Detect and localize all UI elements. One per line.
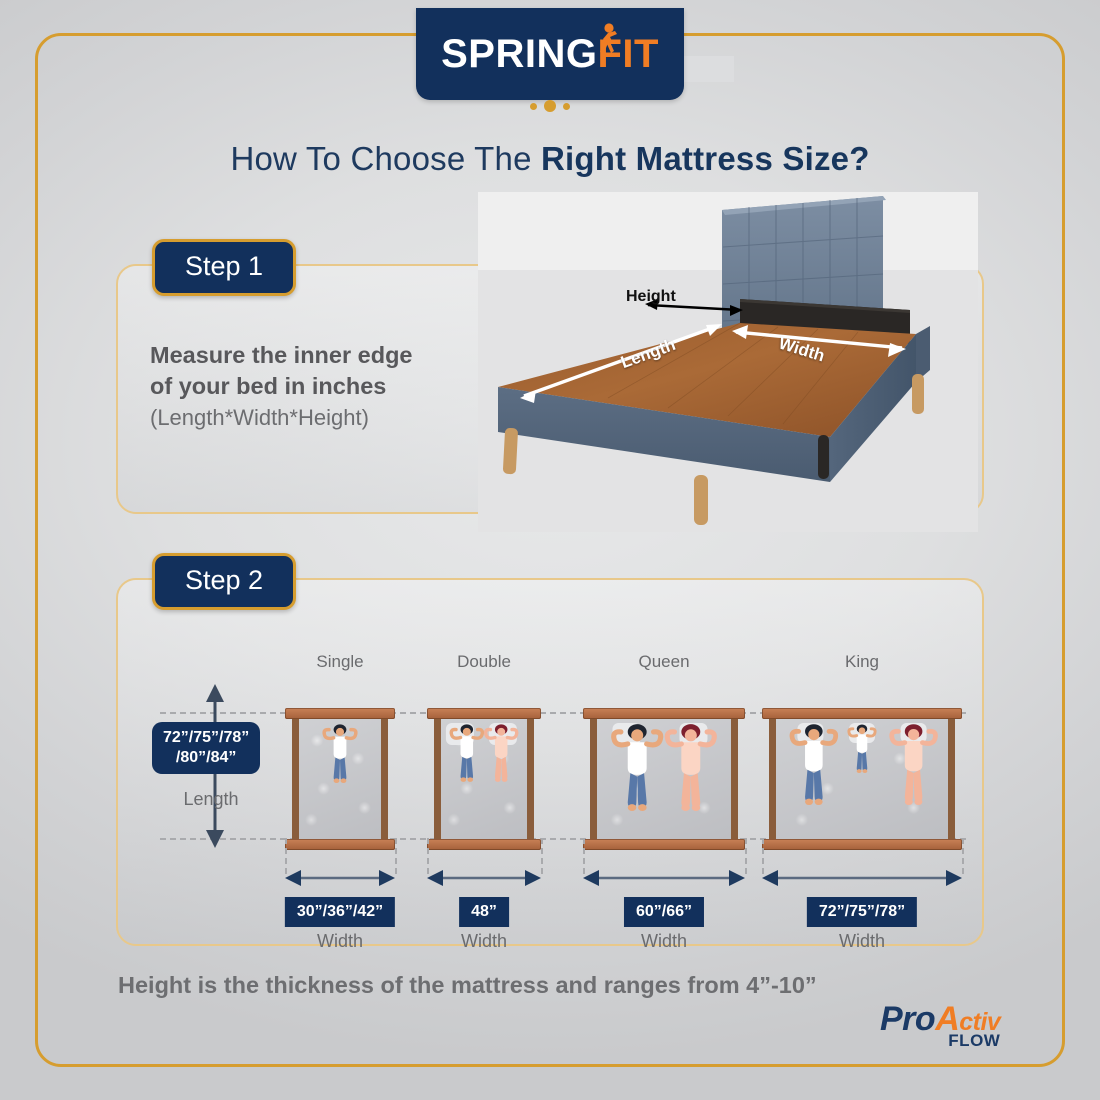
guide-tick (541, 838, 543, 874)
logo-divider-dots (416, 98, 684, 114)
width-value-single: 30”/36”/42” (285, 897, 395, 927)
guide-tick (285, 838, 287, 874)
step-1-line-2: of your bed in inches (150, 371, 480, 402)
length-value-badge: 72”/75”/78” /80”/84” (152, 722, 260, 774)
bed-illustration: Height Length Width (478, 192, 978, 532)
width-value-double: 48” (459, 897, 509, 927)
step-2-badge: Step 2 (152, 553, 296, 610)
slat-bottom-king (762, 839, 962, 850)
proactiv-pro: Pro (880, 1000, 935, 1038)
step-1-badge: Step 1 (152, 239, 296, 296)
guide-tick (395, 838, 397, 874)
mattress-panel-single (292, 719, 388, 839)
guide-tick (962, 838, 964, 874)
size-name-double: Double (457, 652, 511, 672)
page-title-plain: How To Choose The (230, 140, 541, 177)
dot-small-right (563, 103, 570, 110)
width-caption-single: Width (317, 931, 363, 952)
width-arrow-single (285, 869, 395, 887)
guide-tick (745, 838, 747, 874)
length-value-line-1: 72”/75”/78” (163, 728, 249, 748)
brand-logo-text: SPRINGFIT (441, 34, 659, 74)
bed-graphic (478, 192, 978, 532)
footer-note: Height is the thickness of the mattress … (118, 972, 817, 999)
guide-tick (427, 838, 429, 874)
width-arrow-queen (583, 869, 745, 887)
mattress-surface-queen (597, 719, 731, 839)
mattress-surface-double (441, 719, 527, 839)
brand-logo-primary: SPRING (441, 32, 597, 76)
mattress-size-comparison: 72”/75”/78” /80”/84” Length Single (116, 578, 984, 946)
width-caption-king: Width (839, 931, 885, 952)
slat-top-queen (583, 708, 745, 719)
width-value-queen: 60”/66” (624, 897, 704, 927)
step-1-line-1: Measure the inner edge (150, 340, 480, 371)
width-arrow-king (762, 869, 962, 887)
length-caption: Length (168, 789, 254, 810)
guide-tick (762, 838, 764, 874)
width-caption-double: Width (461, 931, 507, 952)
length-value-line-2: /80”/84” (163, 748, 249, 768)
size-name-king: King (845, 652, 879, 672)
brand-logo: SPRINGFIT (416, 8, 684, 100)
guide-tick (583, 838, 585, 874)
mattress-panel-double (434, 719, 534, 839)
size-name-queen: Queen (638, 652, 689, 672)
mattress-panel-queen (590, 719, 738, 839)
slat-bottom-single (285, 839, 395, 850)
size-name-single: Single (316, 652, 363, 672)
slat-top-king (762, 708, 962, 719)
slat-top-single (285, 708, 395, 719)
page-title: How To Choose The Right Mattress Size? (0, 140, 1100, 178)
step-1-instructions: Measure the inner edge of your bed in in… (150, 340, 480, 433)
slat-top-double (427, 708, 541, 719)
width-caption-queen: Width (641, 931, 687, 952)
jumping-person-icon (595, 23, 621, 55)
bed-height-label: Height (626, 288, 676, 306)
width-arrow-double (427, 869, 541, 887)
dot-large-center (544, 100, 556, 112)
slat-bottom-double (427, 839, 541, 850)
width-value-king: 72”/75”/78” (807, 897, 917, 927)
mattress-surface-king (776, 719, 948, 839)
mattress-surface-single (299, 719, 381, 839)
proactiv-flow-logo: ProActiv FLOW (880, 1002, 1000, 1049)
page-title-bold: Right Mattress Size? (541, 140, 870, 177)
mattress-panel-king (769, 719, 955, 839)
step-1-line-3: (Length*Width*Height) (150, 402, 480, 433)
dot-small-left (530, 103, 537, 110)
slat-bottom-queen (583, 839, 745, 850)
